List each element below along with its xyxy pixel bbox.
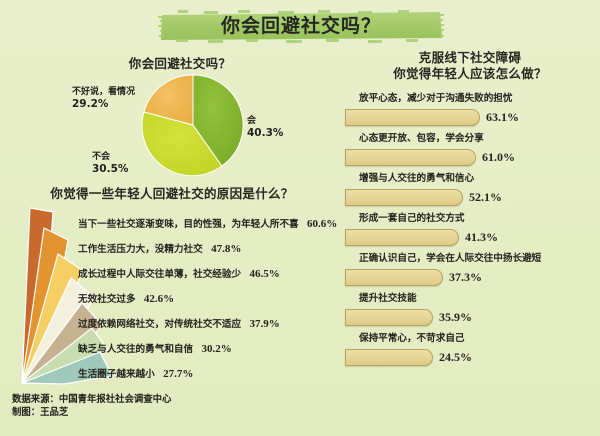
pie-label-1-value: 30.5% <box>92 163 128 175</box>
data-source: 数据来源：中国青年报社社会调查中心 <box>12 393 171 406</box>
reason-value-4: 37.9% <box>249 318 279 330</box>
bar-item: 放平心态，减少对于沟通失败的担忧 63.1% <box>345 92 595 127</box>
bar-label-6: 保持平常心，不苛求自己 <box>345 332 595 346</box>
bar-item: 增强与人交往的勇气和信心 52.1% <box>345 172 595 207</box>
reason-label-1: 工作生活压力大，没精力社交 <box>78 244 203 255</box>
pie-section-heading: 你会回避社交吗？ <box>60 53 300 72</box>
list-item: 当下一些社交逐渐变味，目的性强，为年轻人所不喜 60.6% <box>78 212 346 237</box>
bar-value-0: 63.1% <box>486 110 519 125</box>
list-item: 生活圈子越来越小 27.7% <box>78 362 346 387</box>
reason-value-5: 30.2% <box>201 343 231 355</box>
page-title: 你会回避社交吗？ <box>158 9 444 43</box>
reason-label-0: 当下一些社交逐渐变味，目的性强，为年轻人所不喜 <box>78 219 299 230</box>
bar-value-6: 24.5% <box>439 350 472 365</box>
reason-label-5: 缺乏与人交往的勇气和自信 <box>78 344 193 355</box>
bar-fill-6 <box>345 349 433 366</box>
pie-label-0-value: 40.3% <box>247 127 283 139</box>
list-item: 工作生活压力大，没精力社交 47.8% <box>78 237 346 262</box>
horizontal-bar-chart: 放平心态，减少对于沟通失败的担忧 63.1% 心态更开放、包容，学会分享 61.… <box>345 92 595 372</box>
right-section-heading: 克服线下社交障碍 你觉得年轻人应该怎么做？ <box>345 50 595 82</box>
reason-value-2: 46.5% <box>249 268 279 280</box>
bar-fill-1 <box>345 149 476 166</box>
bar-item: 形成一套自己的社交方式 41.3% <box>345 212 595 247</box>
pie-label-2-text: 不好说，看情况 <box>72 87 135 97</box>
pie-label-0-text: 会 <box>247 116 256 126</box>
reason-list: 当下一些社交逐渐变味，目的性强，为年轻人所不喜 60.6% 工作生活压力大，没精… <box>78 212 346 387</box>
pie-chart <box>140 72 246 178</box>
reason-label-2: 成长过程中人际交往单薄，社交经验少 <box>78 269 241 280</box>
pie-label-kanqingkuang: 不好说，看情况 29.2% <box>72 87 135 111</box>
pie-label-1-text: 不会 <box>92 152 110 162</box>
bar-item: 提升社交技能 35.9% <box>345 292 595 327</box>
infographic-canvas: 你会回避社交吗？ 你会回避社交吗？ 会 <box>0 0 600 436</box>
right-heading-line2: 你觉得年轻人应该怎么做？ <box>393 66 547 81</box>
bar-value-1: 61.0% <box>482 150 515 165</box>
bar-label-4: 正确认识自己，学会在人际交往中扬长避短 <box>345 252 595 266</box>
bar-value-5: 35.9% <box>439 310 472 325</box>
pie-chart-svg <box>140 72 246 178</box>
reason-value-1: 47.8% <box>211 243 241 255</box>
reason-label-3: 无效社交过多 <box>78 294 136 305</box>
title-banner: 你会回避社交吗？ <box>158 9 444 43</box>
reason-label-4: 过度依赖网络社交，对传统社交不适应 <box>78 319 241 330</box>
reason-value-6: 27.7% <box>163 368 193 380</box>
bar-label-3: 形成一套自己的社交方式 <box>345 212 595 226</box>
bar-label-5: 提升社交技能 <box>345 292 595 306</box>
bar-value-2: 52.1% <box>469 190 502 205</box>
pie-label-2-value: 29.2% <box>72 98 108 110</box>
bar-label-0: 放平心态，减少对于沟通失败的担忧 <box>345 92 595 106</box>
right-heading-line1: 克服线下社交障碍 <box>419 50 521 65</box>
bar-fill-3 <box>345 229 459 246</box>
bar-item: 心态更开放、包容，学会分享 61.0% <box>345 132 595 167</box>
pie-label-hui: 会 40.3% <box>247 116 283 140</box>
bar-label-1: 心态更开放、包容，学会分享 <box>345 132 595 146</box>
reason-value-3: 42.6% <box>144 293 174 305</box>
pie-label-buhui: 不会 30.5% <box>92 152 128 176</box>
bar-label-2: 增强与人交往的勇气和信心 <box>345 172 595 186</box>
list-item: 过度依赖网络社交，对传统社交不适应 37.9% <box>78 312 346 337</box>
bar-item: 正确认识自己，学会在人际交往中扬长避短 37.3% <box>345 252 595 287</box>
reason-label-6: 生活圈子越来越小 <box>78 369 155 380</box>
list-item: 缺乏与人交往的勇气和自信 30.2% <box>78 337 346 362</box>
bar-item: 保持平常心，不苛求自己 24.5% <box>345 332 595 367</box>
list-item: 无效社交过多 42.6% <box>78 287 346 312</box>
bar-fill-2 <box>345 189 463 206</box>
bar-value-4: 37.3% <box>449 270 482 285</box>
bar-fill-0 <box>345 109 480 126</box>
bar-value-3: 41.3% <box>465 230 498 245</box>
bar-fill-4 <box>345 269 443 286</box>
footer: 数据来源：中国青年报社社会调查中心 制图：王品芝 <box>12 393 171 419</box>
chart-credit: 制图：王品芝 <box>12 406 171 419</box>
reason-value-0: 60.6% <box>307 218 337 230</box>
list-item: 成长过程中人际交往单薄，社交经验少 46.5% <box>78 262 346 287</box>
bar-fill-5 <box>345 309 433 326</box>
